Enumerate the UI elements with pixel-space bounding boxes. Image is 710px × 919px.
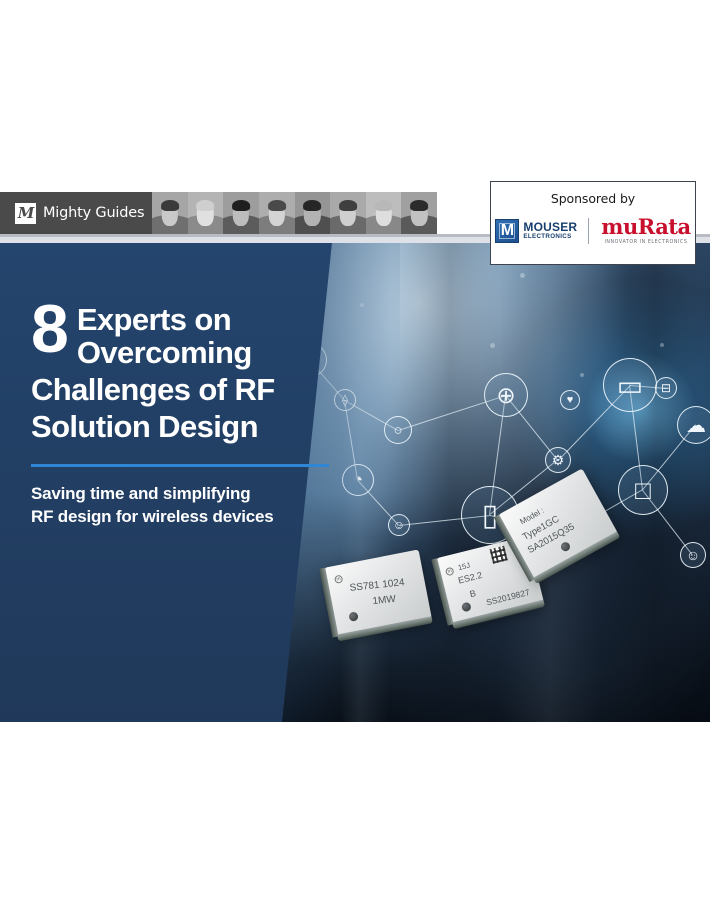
- headshot-hair: [268, 200, 286, 211]
- hero-subtitle-line-2: RF design for wireless devices: [31, 506, 361, 529]
- expert-headshot-8: [401, 192, 437, 234]
- hero-subtitle: Saving time and simplifying RF design fo…: [31, 483, 361, 529]
- hero-accent-rule: [31, 464, 329, 467]
- globe-node-icon: ⊕: [484, 373, 528, 417]
- mouser-name: MOUSER: [523, 221, 577, 233]
- ebook-cover-page: M Mighty Guides ☁⟠○◔☺⊕♥⚙▯▮▭⊟☁□☺ 8 Expert…: [0, 0, 710, 919]
- murata-tagline: INNOVATOR IN ELECTRONICS: [604, 240, 687, 245]
- mighty-guides-wordmark: Mighty Guides: [43, 205, 144, 221]
- vr-headset-node-icon: ▭: [603, 358, 657, 412]
- expert-headshot-6: [330, 192, 366, 234]
- expert-headshot-strip: [152, 192, 437, 234]
- chip-mark: 15J: [457, 561, 471, 573]
- hero-banner: ☁⟠○◔☺⊕♥⚙▯▮▭⊟☁□☺ 8 Experts on Overcoming …: [0, 243, 710, 722]
- chip-mark: ES2.2: [457, 570, 483, 586]
- gear-node-icon: ⚙: [545, 447, 571, 473]
- chip-vendor-icon: m: [334, 575, 343, 584]
- murata-logo[interactable]: muRata INNOVATOR IN ELECTRONICS: [589, 216, 690, 245]
- bokeh-dot: [490, 343, 495, 348]
- headshot-hair: [410, 200, 428, 211]
- heart-node-icon: ♥: [560, 390, 580, 410]
- mighty-guides-monogram-icon: M: [15, 203, 36, 224]
- bokeh-dot: [520, 273, 525, 278]
- hero-title-line-2: Overcoming: [77, 337, 252, 370]
- hero-title-line-3: Challenges of RF: [31, 372, 361, 407]
- chip-vendor-icon: m: [445, 567, 455, 577]
- expert-headshot-3: [223, 192, 259, 234]
- monogram-letter: M: [18, 206, 34, 221]
- mouser-subname: ELECTRONICS: [523, 234, 577, 240]
- headshot-hair: [303, 200, 321, 211]
- chip-mark: 1MW: [372, 594, 396, 607]
- headshot-hair: [375, 200, 393, 211]
- hero-expert-count: 8: [31, 298, 67, 361]
- hero-title-line-4: Solution Design: [31, 409, 361, 444]
- chip-pad: [348, 611, 359, 622]
- tablet-node-icon: □: [618, 465, 668, 515]
- chip-mark: SS781 1024: [349, 577, 405, 594]
- chip-mark: B: [469, 588, 477, 599]
- sponsor-box: Sponsored by M MOUSER ELECTRONICS muRata…: [490, 181, 696, 265]
- expert-headshot-2: [188, 192, 224, 234]
- mouser-electronics-logo[interactable]: M MOUSER ELECTRONICS: [495, 219, 588, 243]
- headshot-hair: [197, 200, 215, 211]
- mouser-mark-letter: M: [501, 223, 514, 239]
- headshot-hair: [161, 200, 179, 211]
- user2-node-icon: ☺: [680, 542, 706, 568]
- cloud2-node-icon: ☁: [677, 406, 710, 444]
- headshot-hair: [339, 200, 357, 211]
- bokeh-dot: [660, 343, 664, 347]
- expert-headshot-7: [366, 192, 402, 234]
- hero-copy: 8 Experts on Overcoming Challenges of RF…: [31, 298, 361, 529]
- hero-title: 8 Experts on Overcoming: [31, 298, 361, 370]
- sponsor-logos: M MOUSER ELECTRONICS muRata INNOVATOR IN…: [495, 216, 690, 245]
- hero-title-line-1: Experts on: [77, 304, 252, 337]
- sponsored-by-label: Sponsored by: [551, 191, 635, 206]
- mouser-wordmark: MOUSER ELECTRONICS: [523, 221, 577, 241]
- headshot-hair: [232, 200, 250, 211]
- expert-headshot-5: [295, 192, 331, 234]
- hero-subtitle-line-1: Saving time and simplifying: [31, 483, 361, 506]
- chip-datamatrix-icon: [490, 546, 508, 564]
- chip-pad: [559, 541, 571, 553]
- bokeh-dot: [580, 373, 584, 377]
- hero-title-top: Experts on Overcoming: [77, 298, 252, 370]
- site-header-bar: M Mighty Guides: [0, 192, 437, 234]
- mighty-guides-logo[interactable]: M Mighty Guides: [0, 192, 152, 234]
- mouser-mark-icon: M: [495, 219, 519, 243]
- display-node-icon: ⊟: [655, 377, 677, 399]
- murata-name: muRata: [601, 216, 690, 237]
- expert-headshot-1: [152, 192, 188, 234]
- expert-headshot-4: [259, 192, 295, 234]
- chip-pad: [461, 602, 472, 613]
